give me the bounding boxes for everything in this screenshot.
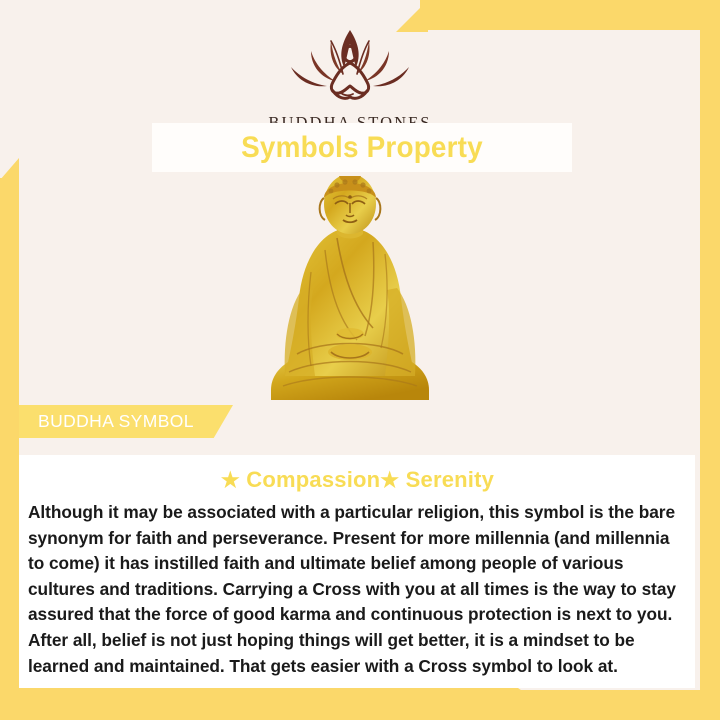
lotus-meditation-figure-icon <box>275 24 425 109</box>
buddha-symbol-tag-label: BUDDHA SYMBOL <box>38 411 194 432</box>
star-icon-left: ★ <box>221 469 240 492</box>
description-panel: ★ Compassion★ Serenity Although it may b… <box>19 455 695 688</box>
page-title: Symbols Property <box>241 131 483 165</box>
attribute-compassion-label: Compassion <box>246 467 380 492</box>
buddha-symbol-tag: BUDDHA SYMBOL <box>19 405 233 438</box>
star-icon-right: ★ <box>380 469 399 492</box>
hero-image-wrapper <box>0 176 700 406</box>
right-yellow-accent-bar <box>700 0 720 720</box>
brand-logo-block: BUDDHA STONES <box>0 24 700 133</box>
poster-canvas: BUDDHA STONES Symbols Property <box>0 0 720 720</box>
bottom-yellow-accent-band <box>0 688 564 720</box>
attributes-headline: ★ Compassion★ Serenity <box>28 467 687 493</box>
golden-seated-buddha-statue-icon <box>245 176 455 406</box>
title-banner: Symbols Property <box>152 123 572 172</box>
description-paragraph: Although it may be associated with a par… <box>28 500 687 679</box>
attribute-serenity-label: Serenity <box>406 467 494 492</box>
